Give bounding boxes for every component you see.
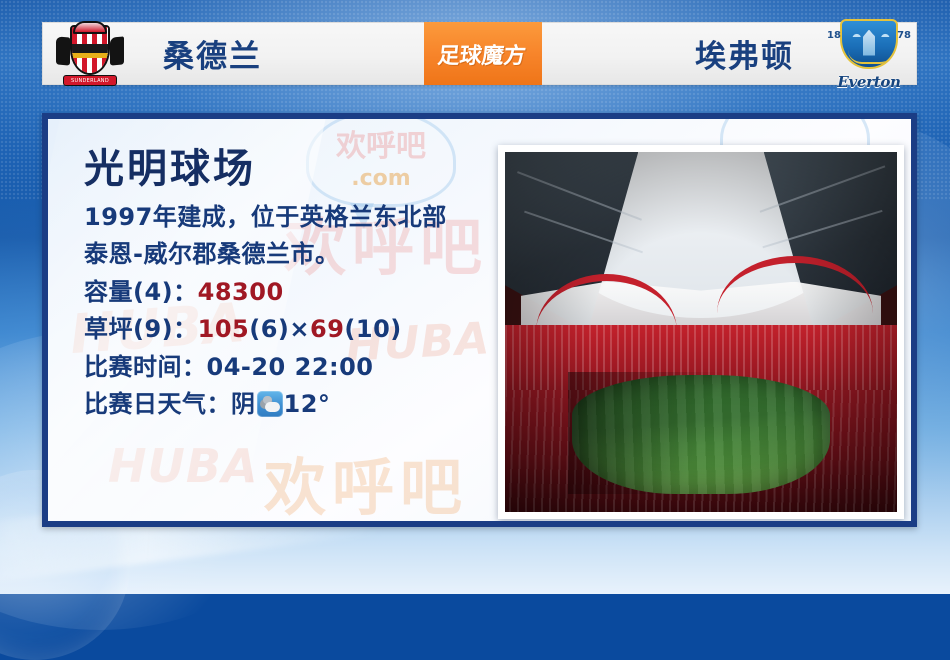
capacity-row: 容量(4)：48300 [84,274,504,311]
lion-right-icon [110,36,124,65]
capacity-value: 48300 [198,278,284,306]
stadium-description-line-2: 泰恩-威尔郡桑德兰市。 [84,236,504,273]
crest-year-left: 18 [827,30,841,41]
cloudy-icon [257,391,283,417]
shield-cap-icon [73,21,107,34]
match-time-value: 04-20 22:00 [207,353,374,381]
match-time-row: 比赛时间：04-20 22:00 [84,349,504,386]
sunderland-crest-icon: SUNDERLAND A.F.C. [53,21,127,87]
stadium-description-line-1: 1997年建成，位于英格兰东北部 [84,199,504,236]
stadium-info-text: 光明球场 1997年建成，位于英格兰东北部 泰恩-威尔郡桑德兰市。 容量(4)：… [84,147,504,424]
pitch-length-value: 105 [198,315,250,343]
stadium-photo [505,152,897,512]
shield-band [72,44,108,53]
match-time-label: 比赛时间： [84,353,207,381]
home-team-block[interactable]: SUNDERLAND A.F.C. 桑德兰 [43,23,424,84]
pitch-label: 草坪(9)： [84,315,198,343]
pitch-width-rank: (10) [344,315,401,343]
away-team-name: 埃弗顿 [695,31,794,76]
site-logo-text: 足球魔方 [437,38,528,70]
away-team-block[interactable]: 埃弗顿 18 78 Everton [542,23,917,84]
shield-band-gold [72,53,108,58]
weather-label: 比赛日天气： [84,390,231,418]
crest-wordmark: Everton [828,73,910,91]
crest-year-right: 78 [897,30,911,41]
stadium-title: 光明球场 [84,147,504,191]
home-team-name: 桑德兰 [163,31,262,76]
weather-row: 比赛日天气：阴12° [84,386,504,423]
match-header-bar: SUNDERLAND A.F.C. 桑德兰 足球魔方 埃弗顿 18 78 Eve… [42,22,917,85]
everton-crest-icon: 18 78 Everton [826,17,912,91]
stadium-info-panel: 欢呼吧 .com .com HUBA HUBA 欢呼吧 欢呼吧 HUBA 光明球… [42,113,917,527]
lion-left-icon [56,36,70,65]
stadium-photo-frame[interactable] [498,145,904,519]
pitch-width-value: 69 [310,315,344,343]
weather-condition: 阴 [231,390,256,418]
watermark-huanhuba-bottom: 欢呼吧 [264,437,468,527]
pitch-row: 草坪(9)：105(6)×69(10) [84,311,504,348]
shield-icon [840,19,898,69]
crest-scroll-text: SUNDERLAND A.F.C. [63,75,117,86]
site-logo[interactable]: 足球魔方 [424,22,542,85]
photo-vignette [505,152,897,512]
pitch-separator: × [289,315,310,343]
pitch-length-rank: (6) [249,315,289,343]
crest-wreath [848,50,894,64]
weather-temperature: 12° [284,390,331,418]
capacity-label: 容量(4)： [84,278,198,306]
watermark-huba-bottom: HUBA [108,439,259,493]
